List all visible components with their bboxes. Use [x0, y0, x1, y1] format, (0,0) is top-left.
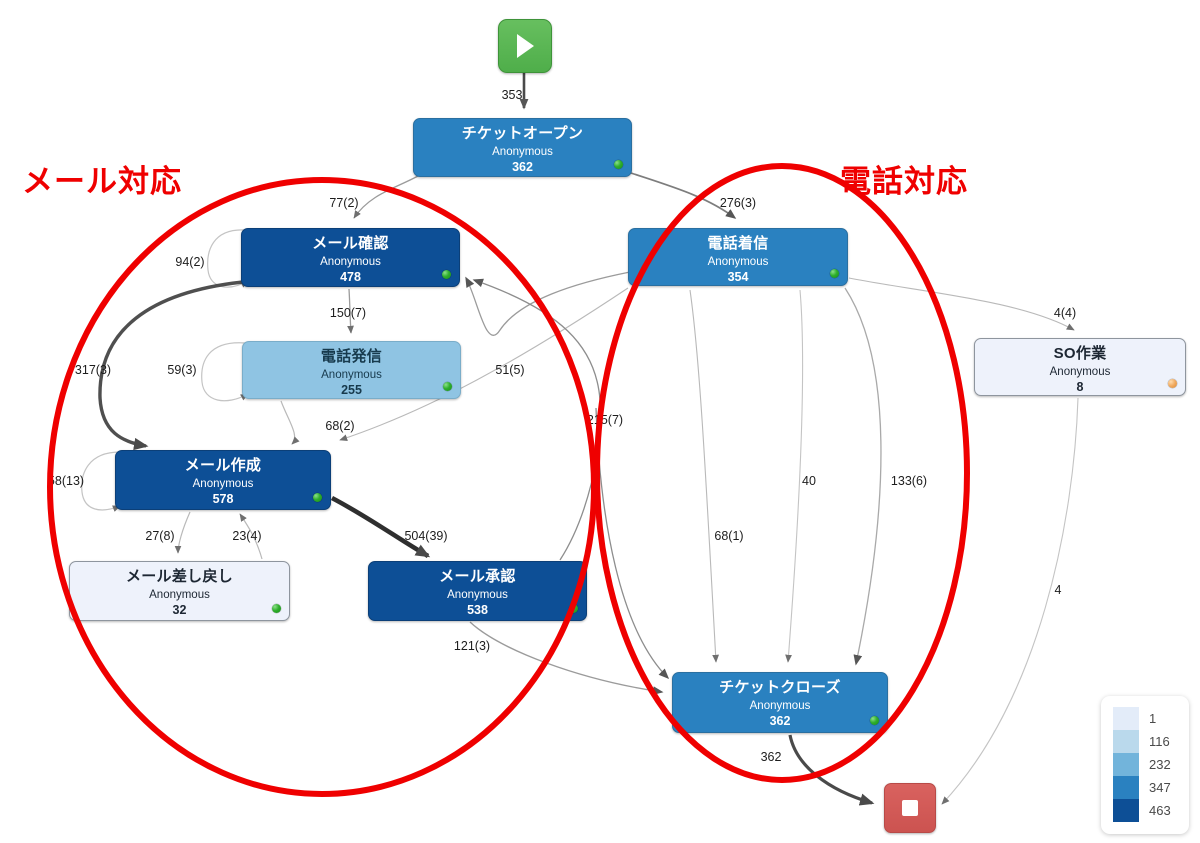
status-dot-icon [569, 604, 578, 613]
legend-label: 116 [1149, 730, 1171, 753]
status-dot-icon [614, 160, 623, 169]
edge-label: 150(7) [330, 306, 366, 320]
legend-swatch [1113, 799, 1139, 822]
node-title: メール差し戻し [70, 569, 289, 586]
legend-label: 1 [1149, 707, 1171, 730]
legend-panel[interactable]: 1 116 232 347 463 [1101, 696, 1189, 834]
edge-label: 51(5) [495, 363, 524, 377]
node-title: チケットクローズ [673, 680, 887, 697]
stop-icon [902, 800, 918, 816]
edge-label: 4 [1055, 583, 1062, 597]
node-resource: Anonymous [414, 146, 631, 159]
start-node[interactable] [498, 19, 552, 73]
node-value: 255 [243, 383, 460, 397]
edge-label: 353 [502, 88, 523, 102]
node-resource: Anonymous [243, 369, 460, 382]
edge-mail-create-to-mail-return [178, 512, 190, 553]
edge-label: 40 [802, 474, 816, 488]
legend-label: 347 [1149, 776, 1171, 799]
edge-label: 362 [761, 750, 782, 764]
node-title: 電話発信 [243, 349, 460, 366]
node-value: 362 [673, 714, 887, 728]
edge-so-work-to-end [942, 398, 1078, 804]
legend-swatch [1113, 776, 1139, 799]
edge-label: 27(8) [145, 529, 174, 543]
edge-label: 68(2) [325, 419, 354, 433]
edge-label: 59(3) [167, 363, 196, 377]
node-title: メール作成 [116, 458, 330, 475]
edge-label: 58(13) [48, 474, 84, 488]
edge-ticket-close-to-end [790, 735, 872, 803]
node-value: 8 [975, 380, 1185, 394]
play-icon [517, 34, 534, 58]
legend-label: 232 [1149, 753, 1171, 776]
edge-label: 4(4) [1054, 306, 1076, 320]
node-ticket-close[interactable]: チケットクローズ Anonymous 362 [672, 672, 888, 733]
edge-label: 77(2) [329, 196, 358, 210]
edge-phone-in-to-so-work [849, 278, 1074, 330]
node-value: 538 [369, 603, 586, 617]
status-dot-icon [272, 604, 281, 613]
edge-phone-in-to-ticket-close-a [690, 290, 716, 662]
edge-ticket-open-to-phone-in [628, 172, 735, 218]
edge-mail-approve-to-ticket-close [470, 622, 662, 692]
status-dot-icon [870, 716, 879, 725]
group-label-phone: 電話対応 [840, 156, 968, 201]
node-resource: Anonymous [369, 589, 586, 602]
status-dot-icon [830, 269, 839, 278]
status-dot-icon [442, 270, 451, 279]
legend-label: 463 [1149, 799, 1171, 822]
node-title: SO作業 [975, 346, 1185, 363]
edge-phone-out-to-mail-create [281, 401, 295, 444]
edge-label: 23(4) [232, 529, 261, 543]
node-resource: Anonymous [673, 700, 887, 713]
node-resource: Anonymous [242, 256, 459, 269]
status-dot-icon [443, 382, 452, 391]
legend-swatch [1113, 753, 1139, 776]
group-label-mail: メール対応 [22, 156, 182, 201]
node-mail-return[interactable]: メール差し戻し Anonymous 32 [69, 561, 290, 621]
legend-swatches [1113, 707, 1139, 834]
edge-ticket-open-to-mail-check [354, 176, 418, 218]
node-resource: Anonymous [70, 589, 289, 602]
end-node[interactable] [884, 783, 936, 833]
edge-label: 68(1) [714, 529, 743, 543]
edge-label: 317(3) [75, 363, 111, 377]
node-title: チケットオープン [414, 126, 631, 143]
node-value: 478 [242, 270, 459, 284]
edge-phone-in-to-mail-check [466, 272, 630, 335]
node-resource: Anonymous [116, 478, 330, 491]
node-title: 電話着信 [629, 236, 847, 253]
status-dot-icon [313, 493, 322, 502]
node-value: 578 [116, 492, 330, 506]
edge-phone-in-to-ticket-close-c [845, 288, 881, 664]
node-title: メール確認 [242, 236, 459, 253]
legend-labels: 1 116 232 347 463 [1149, 707, 1171, 834]
node-value: 32 [70, 603, 289, 617]
legend-swatch [1113, 707, 1139, 730]
edge-cross-to-ticket-close [596, 408, 668, 678]
edge-label: 504(39) [404, 529, 447, 543]
edge-phone-in-to-ticket-close-b [788, 290, 803, 662]
process-map-canvas[interactable]: チケットオープン Anonymous 362 メール確認 Anonymous 4… [0, 0, 1200, 843]
edge-mail-create-to-mail-approve [332, 498, 428, 556]
edge-label: 276(3) [720, 196, 756, 210]
node-mail-check[interactable]: メール確認 Anonymous 478 [241, 228, 460, 287]
node-mail-create[interactable]: メール作成 Anonymous 578 [115, 450, 331, 510]
node-title: メール承認 [369, 569, 586, 586]
edge-label: 215(7) [587, 413, 623, 427]
node-so-work[interactable]: SO作業 Anonymous 8 [974, 338, 1186, 396]
node-resource: Anonymous [975, 366, 1185, 379]
node-phone-out[interactable]: 電話発信 Anonymous 255 [242, 341, 461, 399]
edge-label: 121(3) [454, 639, 490, 653]
edge-label: 133(6) [891, 474, 927, 488]
edge-mail-approve-up [474, 280, 601, 560]
edge-label: 94(2) [175, 255, 204, 269]
node-value: 354 [629, 270, 847, 284]
status-dot-icon [1168, 379, 1177, 388]
node-value: 362 [414, 160, 631, 174]
node-phone-in[interactable]: 電話着信 Anonymous 354 [628, 228, 848, 286]
node-resource: Anonymous [629, 256, 847, 269]
node-mail-approve[interactable]: メール承認 Anonymous 538 [368, 561, 587, 621]
node-ticket-open[interactable]: チケットオープン Anonymous 362 [413, 118, 632, 177]
legend-swatch [1113, 730, 1139, 753]
